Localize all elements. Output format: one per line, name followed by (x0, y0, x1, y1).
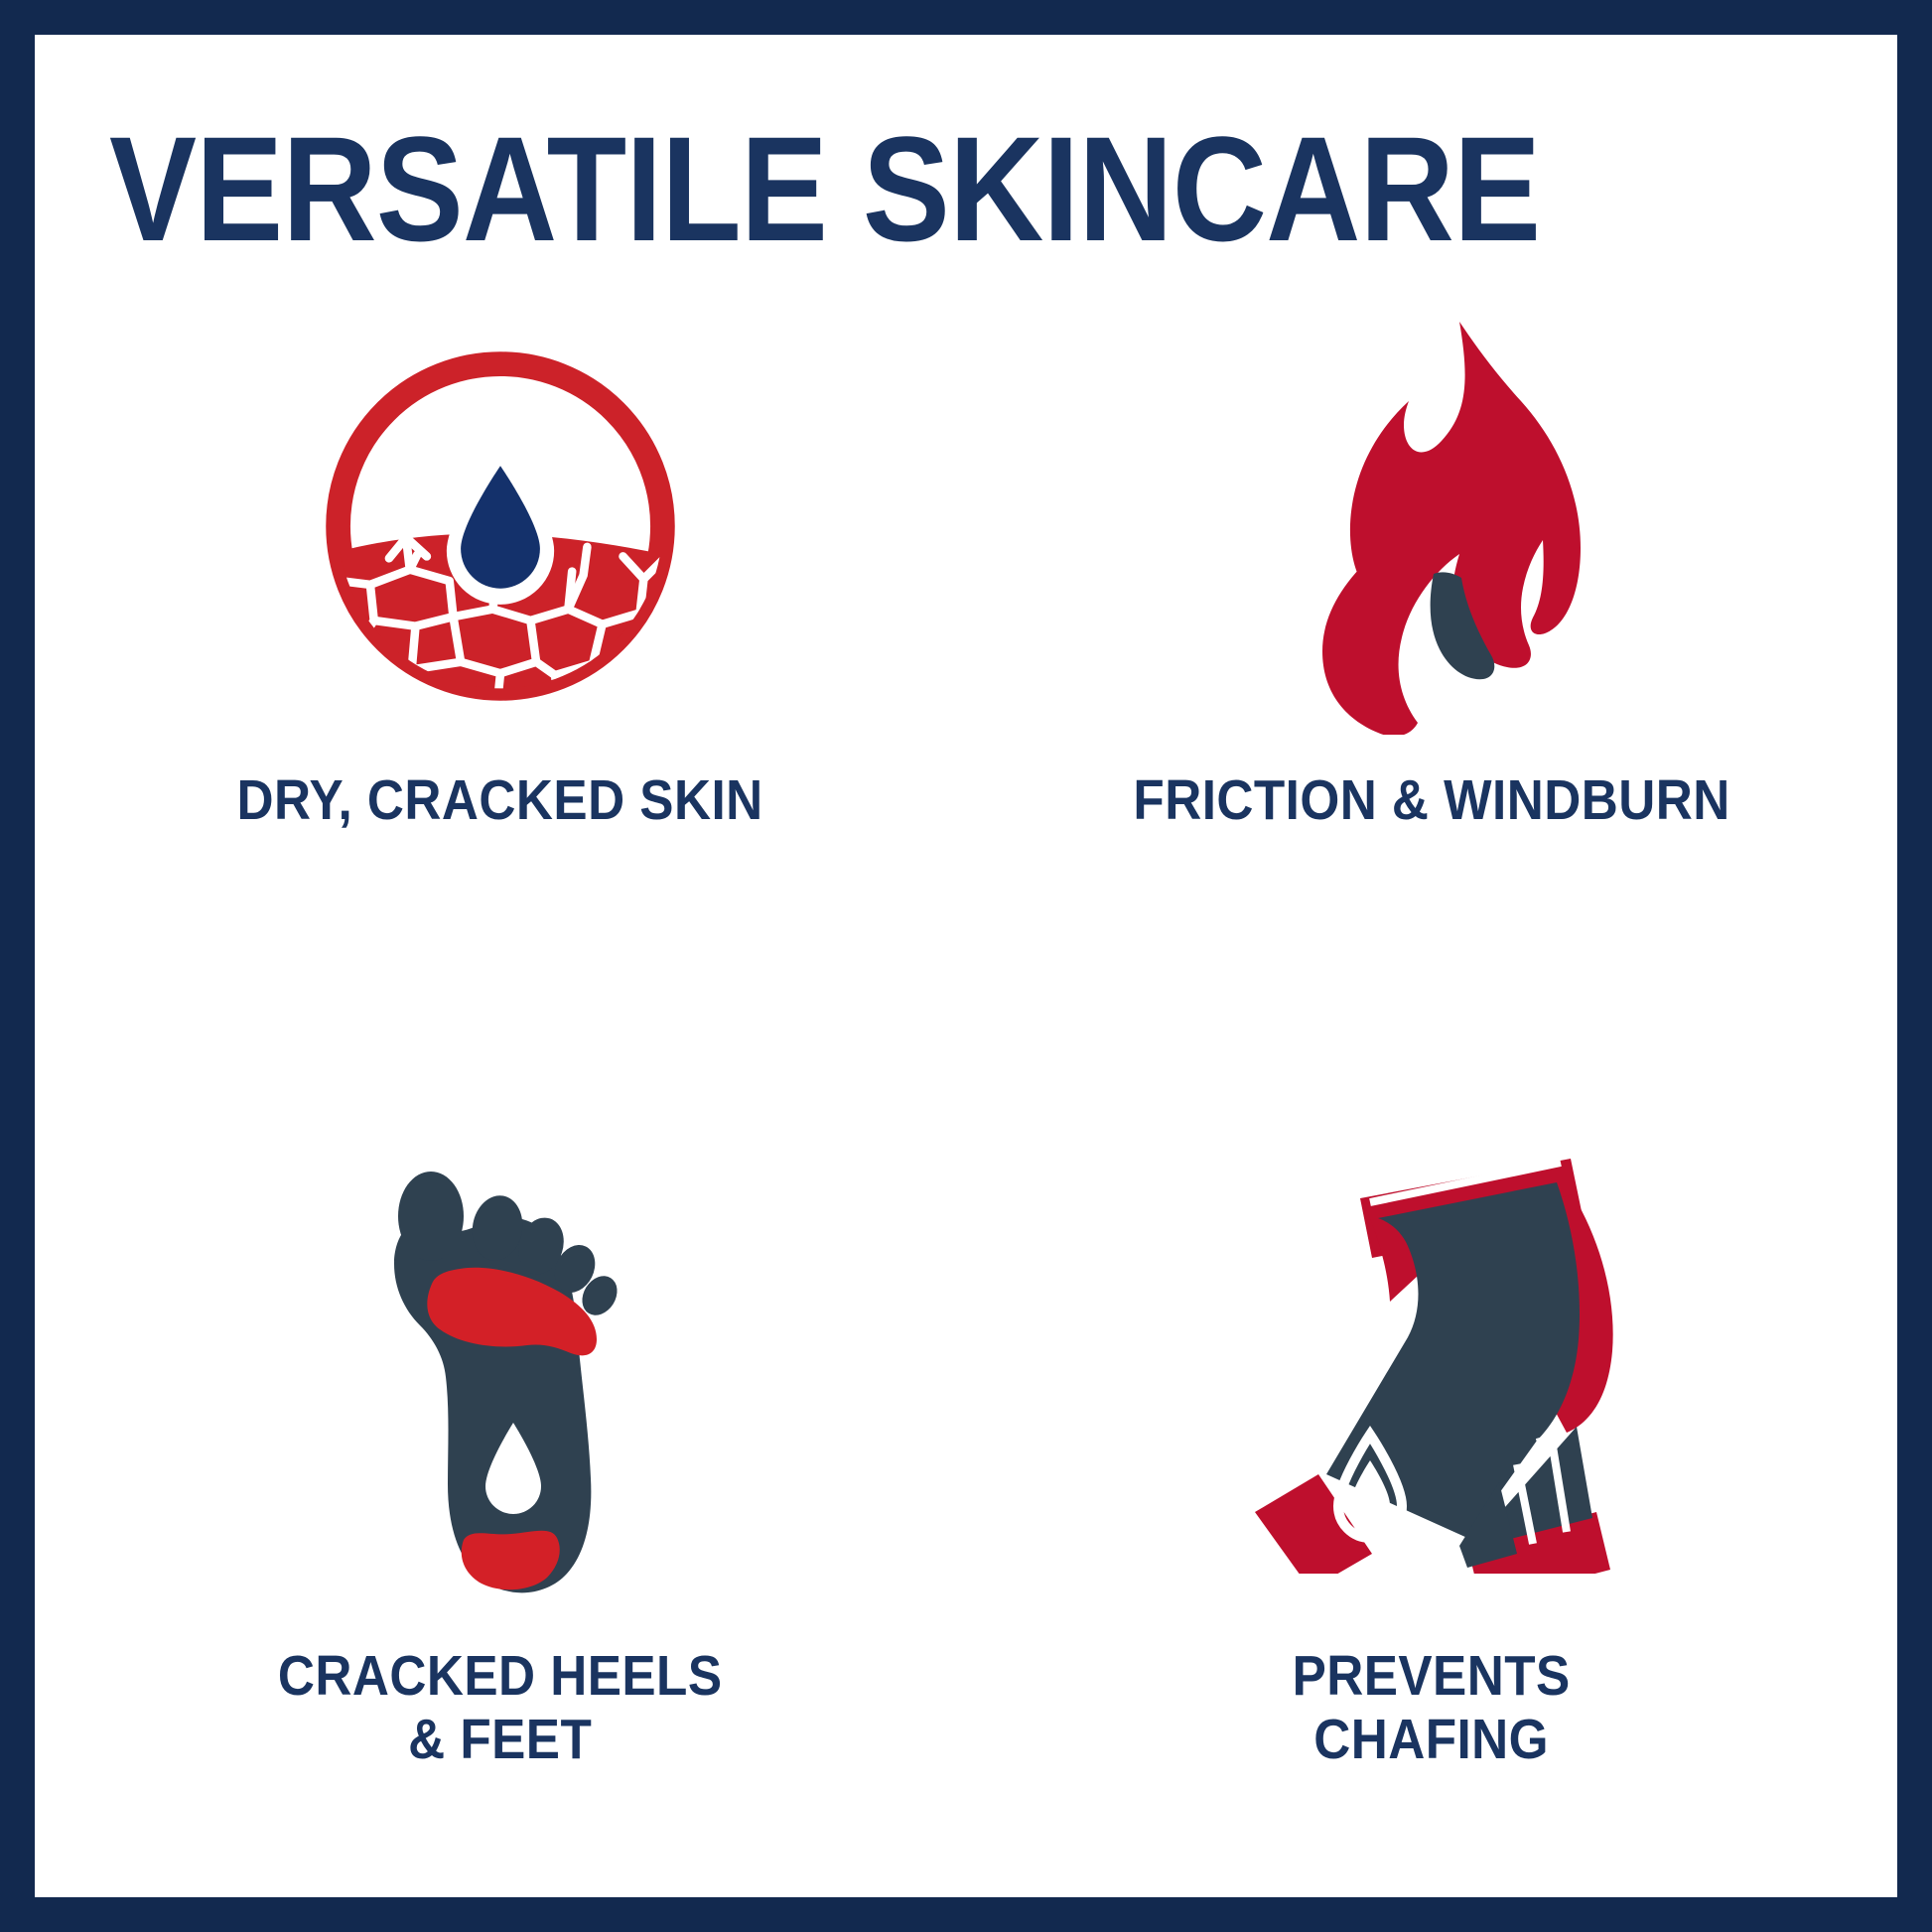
footprint-icon (376, 1107, 624, 1603)
feature-label: PREVENTS CHAFING (1293, 1645, 1571, 1772)
icon-container (1233, 1087, 1630, 1623)
feature-label: CRACKED HEELS & FEET (278, 1645, 723, 1772)
page-title: VERSATILE SKINCARE (109, 114, 1540, 263)
infographic-poster: VERSATILE SKINCARE (0, 0, 1932, 1932)
icon-container (376, 1087, 624, 1623)
feature-cell-friction-windburn: FRICTION & WINDBURN (966, 313, 1897, 1087)
cycling-shorts-icon (1233, 1137, 1630, 1574)
feature-label: FRICTION & WINDBURN (1133, 769, 1729, 833)
feature-grid: DRY, CRACKED SKIN FRICTION & WINDBURN (35, 313, 1897, 1862)
feature-cell-dry-cracked-skin: DRY, CRACKED SKIN (35, 313, 966, 1087)
cracked-skin-circle-icon (312, 338, 689, 715)
feature-label: DRY, CRACKED SKIN (237, 769, 763, 833)
feature-cell-cracked-heels-feet: CRACKED HEELS & FEET (35, 1087, 966, 1862)
poster-canvas: VERSATILE SKINCARE (35, 35, 1897, 1897)
flame-icon (1283, 318, 1581, 735)
feature-cell-prevents-chafing: PREVENTS CHAFING (966, 1087, 1897, 1862)
icon-container (312, 313, 689, 740)
water-droplet-icon (461, 466, 540, 589)
toe-1 (398, 1172, 464, 1261)
icon-container (1283, 313, 1581, 740)
